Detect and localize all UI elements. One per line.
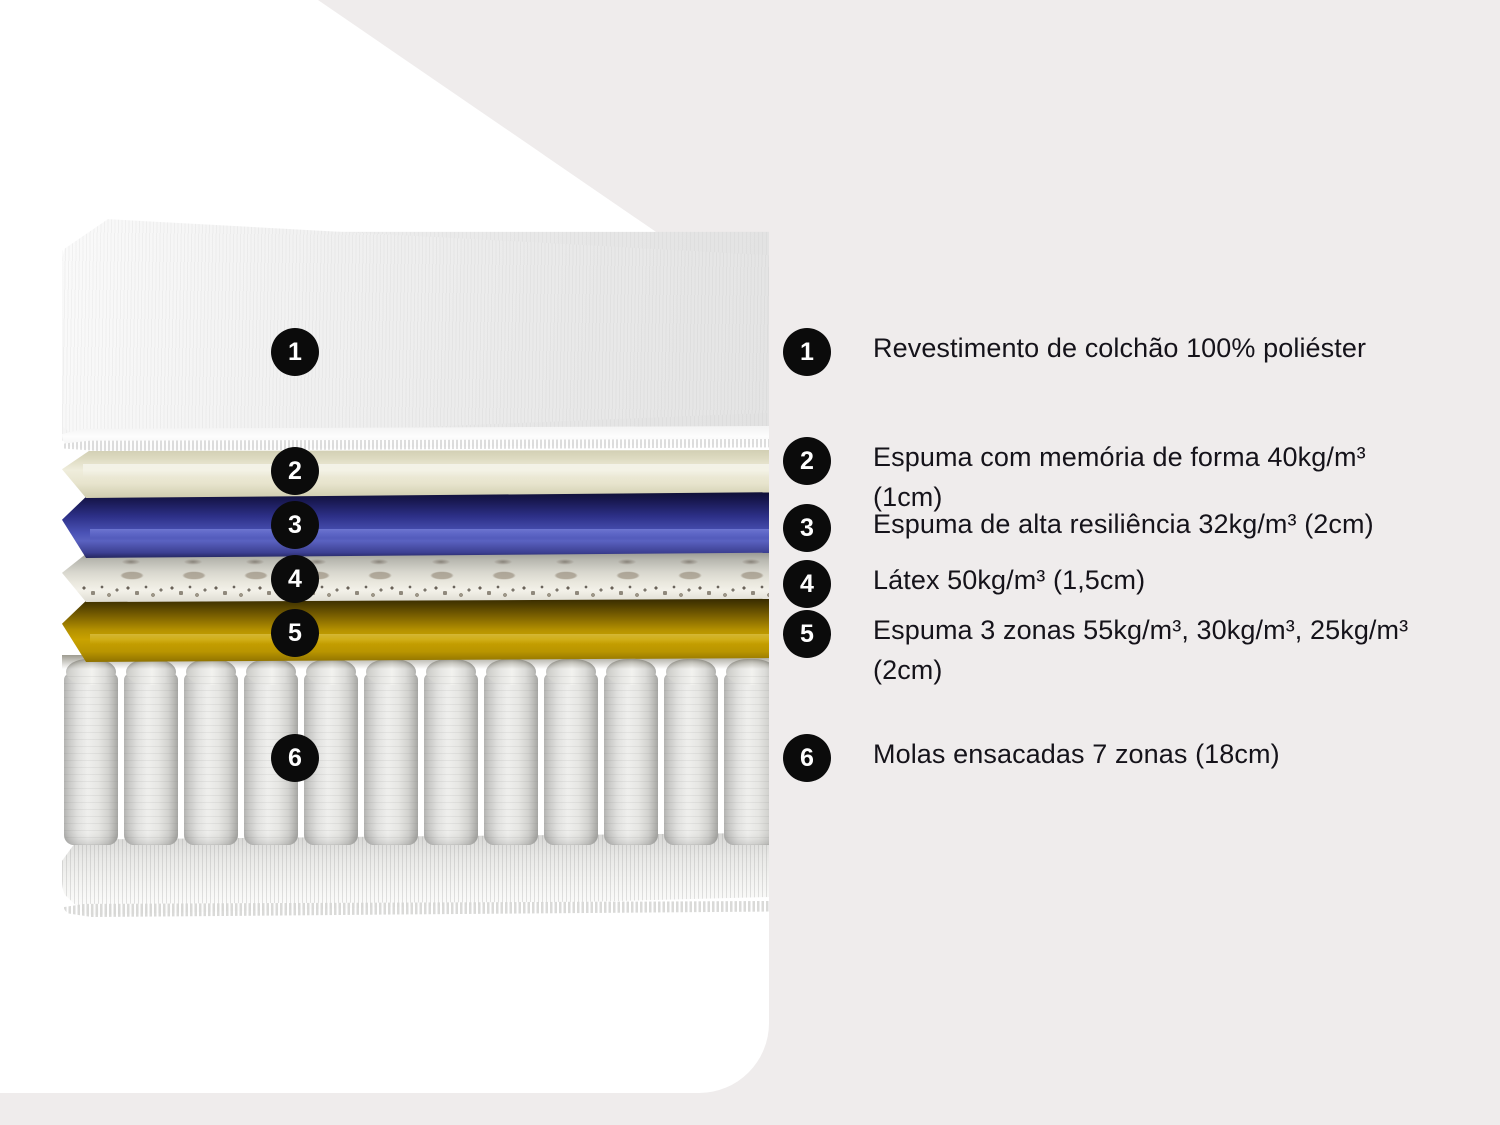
memory-foam-highlight	[83, 464, 769, 476]
mattress-layer-pocket-springs	[62, 655, 769, 845]
pocket-spring	[484, 673, 538, 845]
hr-foam-body	[62, 492, 769, 558]
legend-badge-2: 2	[783, 437, 831, 485]
hr-foam-highlight	[90, 529, 769, 538]
pocket-spring	[184, 673, 238, 845]
cover-piping-stitch	[62, 439, 769, 451]
legend-item-6: 6Molas ensacadas 7 zonas (18cm)	[783, 734, 1280, 782]
legend-badge-3: 3	[783, 504, 831, 552]
legend-label-4: Látex 50kg/m³ (1,5cm)	[873, 560, 1145, 600]
legend-badge-1: 1	[783, 328, 831, 376]
mattress-layer-memory-foam	[62, 450, 769, 498]
pocket-spring	[364, 673, 418, 845]
mattress-cutaway-image: 123456	[0, 0, 769, 1125]
image-badge-4: 4	[271, 555, 319, 603]
legend-item-4: 4Látex 50kg/m³ (1,5cm)	[783, 560, 1145, 608]
image-badge-6: 6	[271, 734, 319, 782]
legend-item-3: 3Espuma de alta resiliência 32kg/m³ (2cm…	[783, 504, 1374, 552]
legend-badge-5: 5	[783, 610, 831, 658]
image-badge-2: 2	[271, 447, 319, 495]
latex-speckle-upper	[83, 568, 769, 584]
legend-label-6: Molas ensacadas 7 zonas (18cm)	[873, 734, 1280, 774]
pocket-spring	[724, 673, 769, 845]
mattress-base-foundation	[62, 833, 769, 915]
pocket-spring	[664, 673, 718, 845]
image-badge-1: 1	[271, 328, 319, 376]
cover-quilt-texture	[62, 218, 769, 450]
legend-item-1: 1Revestimento de colchão 100% poliéster	[783, 328, 1366, 376]
mattress-layer-zoned-foam	[62, 596, 769, 662]
latex-speckle-lower	[80, 584, 769, 600]
pocket-spring	[124, 673, 178, 845]
legend-badge-6: 6	[783, 734, 831, 782]
pocket-spring	[64, 673, 118, 845]
mattress-layer-cover	[62, 218, 769, 450]
image-badge-3: 3	[271, 501, 319, 549]
pocket-spring	[604, 673, 658, 845]
pocket-spring	[424, 673, 478, 845]
legend-label-1: Revestimento de colchão 100% poliéster	[873, 328, 1366, 368]
zoned-foam-highlight	[90, 634, 769, 643]
legend-item-5: 5Espuma 3 zonas 55kg/m³, 30kg/m³, 25kg/m…	[783, 610, 1408, 690]
legend-label-3: Espuma de alta resiliência 32kg/m³ (2cm)	[873, 504, 1374, 544]
layer-legend-list: 1Revestimento de colchão 100% poliéster2…	[783, 0, 1483, 1125]
legend-label-5: Espuma 3 zonas 55kg/m³, 30kg/m³, 25kg/m³…	[873, 610, 1408, 690]
zoned-foam-body	[62, 596, 769, 662]
legend-badge-4: 4	[783, 560, 831, 608]
image-badge-5: 5	[271, 609, 319, 657]
mattress-layer-hr-foam	[62, 492, 769, 558]
pocket-spring	[544, 673, 598, 845]
